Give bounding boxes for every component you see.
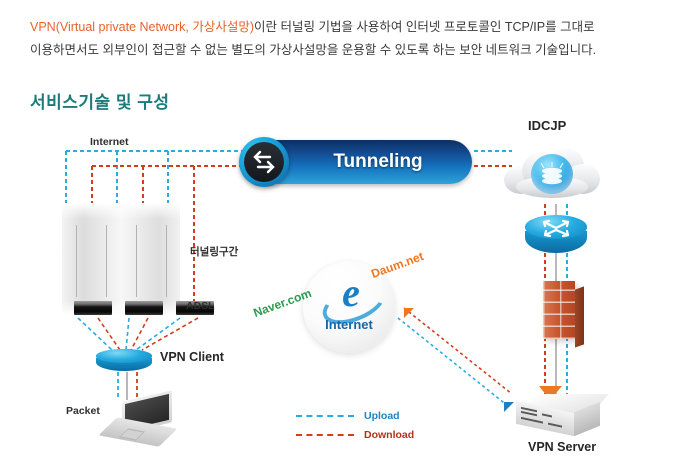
firewall-side-face [575, 286, 584, 347]
intro-line2: 이용하면서도 외부인이 접근할 수 없는 별도의 가상사설망을 운용할 수 있도… [30, 43, 596, 57]
legend-item-download: Download [296, 425, 414, 444]
arrowhead-to-globe [404, 308, 414, 318]
adsl-label: ADSL [186, 300, 215, 312]
idc-server-icon [531, 154, 573, 194]
idcjp-cloud [504, 146, 600, 206]
adsl-modem-2 [125, 301, 163, 315]
packet-label: Packet [66, 405, 100, 417]
legend-label-upload: Upload [364, 410, 400, 422]
vpn-client-label: VPN Client [160, 350, 224, 364]
internet-top-label: Internet [90, 136, 129, 148]
idcjp-label: IDCJP [528, 118, 566, 133]
section-heading: 서비스기술 및 구성 [30, 88, 170, 113]
legend-item-upload: Upload [296, 406, 414, 425]
legend-dash-upload [296, 415, 354, 417]
firewall-brick-wall [543, 281, 575, 339]
vpn-server-label: VPN Server [528, 440, 596, 454]
idc-router [525, 215, 587, 253]
intro-highlight: VPN(Virtual private Network, 가상사설망) [30, 20, 254, 34]
intro-rest-line1: 이란 터널링 기법을 사용하여 인터넷 프로토콜인 TCP/IP를 그대로 [254, 20, 595, 34]
intro-paragraph: VPN(Virtual private Network, 가상사설망)이란 터널… [30, 16, 650, 62]
legend-dash-download [296, 434, 354, 436]
vpn-client-hub [96, 349, 152, 371]
tunneling-banner: Tunneling [250, 140, 472, 184]
page-root: VPN(Virtual private Network, 가상사설망)이란 터널… [0, 0, 680, 474]
adsl-modem-1 [74, 301, 112, 315]
tunnel-zone-label: 터널링구간 [190, 244, 238, 259]
legend-label-download: Download [364, 429, 414, 441]
arrowhead-to-server [504, 402, 514, 412]
network-diagram: 터널링구간 ADSL Internet VPN Client Packet Tu… [0, 118, 680, 474]
bidirectional-arrows-icon [239, 137, 289, 187]
tunnel-zone-body [62, 203, 180, 315]
laptop-device [100, 396, 178, 448]
legend: Upload Download [296, 406, 414, 444]
vpn-server-appliance [516, 394, 606, 436]
globe-label: Internet [303, 317, 395, 332]
